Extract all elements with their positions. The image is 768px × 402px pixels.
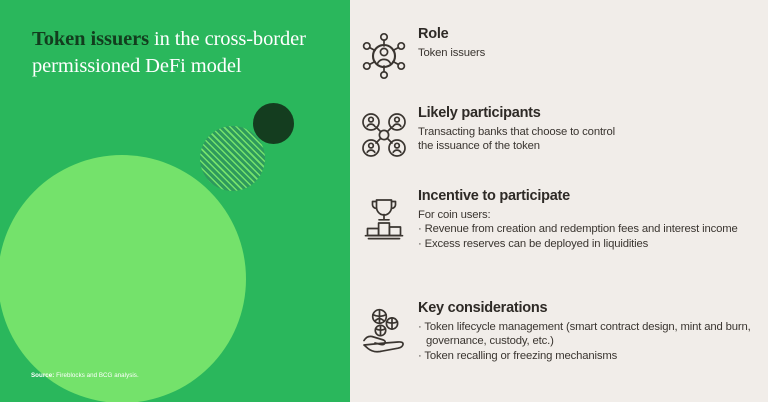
feature-line: For coin users:	[418, 208, 752, 222]
infographic-canvas: Token issuers in the cross-border permis…	[0, 0, 768, 402]
large-light-green-circle-decoration	[0, 155, 246, 402]
feature-row-incentive: Incentive to participate For coin users:…	[350, 188, 768, 251]
feature-line: Transacting banks that choose to control	[418, 125, 752, 139]
trophy-podium-icon	[350, 188, 418, 246]
network-person-icon	[350, 26, 418, 84]
feature-body-key-considerations: Key considerations Token lifecycle manag…	[418, 300, 768, 363]
feature-body-incentive: Incentive to participate For coin users:…	[418, 188, 768, 251]
feature-text-incentive: For coin users: Revenue from creation an…	[418, 208, 752, 251]
feature-bullet-list-incentive: Revenue from creation and redemption fee…	[418, 222, 752, 251]
feature-heading-likely-participants: Likely participants	[418, 105, 752, 122]
bullet-item: Token lifecycle management (smart contra…	[418, 320, 752, 349]
striped-circle-decoration	[200, 126, 265, 191]
feature-row-role: Role Token issuers	[350, 26, 768, 84]
feature-line: the issuance of the token	[418, 139, 752, 153]
source-value: Fireblocks and BCG analysis.	[54, 372, 138, 379]
page-title: Token issuers in the cross-border permis…	[32, 26, 322, 81]
feature-heading-incentive: Incentive to participate	[418, 188, 752, 205]
page-title-emphasis: Token issuers	[32, 28, 149, 50]
bullet-item: Token recalling or freezing mechanisms	[418, 349, 752, 363]
feature-body-likely-participants: Likely participants Transacting banks th…	[418, 105, 768, 154]
right-details-panel: Role Token issuers	[350, 0, 768, 402]
four-participants-network-icon	[350, 105, 418, 163]
source-label: Source:	[31, 372, 54, 379]
feature-heading-role: Role	[418, 26, 752, 43]
dark-green-circle-decoration	[253, 103, 294, 144]
feature-body-role: Role Token issuers	[418, 26, 768, 60]
feature-text-key-considerations: Token lifecycle management (smart contra…	[418, 320, 752, 363]
bullet-item: Excess reserves can be deployed in liqui…	[418, 237, 752, 251]
feature-bullet-list-key-considerations: Token lifecycle management (smart contra…	[418, 320, 752, 363]
feature-row-likely-participants: Likely participants Transacting banks th…	[350, 105, 768, 163]
bullet-item: Revenue from creation and redemption fee…	[418, 222, 752, 236]
source-note: Source: Fireblocks and BCG analysis.	[31, 372, 139, 379]
feature-text-likely-participants: Transacting banks that choose to control…	[418, 125, 752, 154]
feature-line: Token issuers	[418, 46, 752, 60]
feature-heading-key-considerations: Key considerations	[418, 300, 752, 317]
hand-with-coins-icon	[350, 300, 418, 358]
left-title-panel: Token issuers in the cross-border permis…	[0, 0, 350, 402]
feature-row-key-considerations: Key considerations Token lifecycle manag…	[350, 300, 768, 363]
feature-text-role: Token issuers	[418, 46, 752, 60]
